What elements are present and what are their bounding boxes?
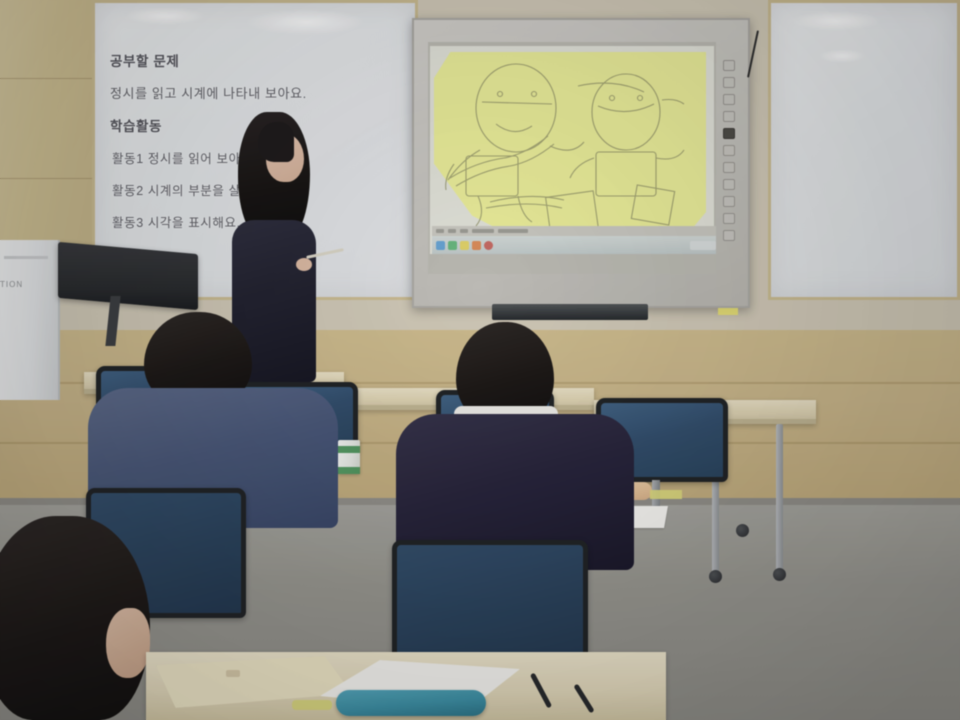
teal-pencil-case xyxy=(336,690,486,716)
help-icon[interactable] xyxy=(723,230,735,241)
yellow-marker xyxy=(292,700,332,710)
taskbar-icon-1[interactable] xyxy=(436,241,445,250)
taskbar-icon-4[interactable] xyxy=(472,241,481,250)
interactive-smartboard[interactable] xyxy=(412,18,750,308)
smartboard-sticker-label xyxy=(718,308,738,315)
slide-menu-row xyxy=(432,226,716,236)
undo-icon[interactable] xyxy=(723,162,735,173)
print-icon[interactable] xyxy=(723,213,735,224)
cabinet-slot xyxy=(4,256,48,259)
projected-slide xyxy=(430,46,714,254)
table-caster xyxy=(773,568,786,581)
smartboard-tool-column[interactable] xyxy=(718,60,740,260)
eraser-icon[interactable] xyxy=(723,145,735,156)
select-icon[interactable] xyxy=(723,94,735,105)
save-icon[interactable] xyxy=(723,196,735,207)
page-up-icon[interactable] xyxy=(723,60,735,71)
page-down-icon[interactable] xyxy=(723,77,735,88)
whiteboard-heading-problem: 공부할 문제 xyxy=(110,50,410,70)
child-drawing xyxy=(430,46,714,246)
pen-icon[interactable] xyxy=(723,111,735,122)
chair-caster xyxy=(736,524,749,537)
active-tool-icon[interactable] xyxy=(723,128,735,139)
redo-icon[interactable] xyxy=(723,179,735,190)
classroom-photo: 공부할 문제 정시를 읽고 시계에 나타내 보아요. 학습활동 활동1 정시를 … xyxy=(0,0,960,720)
table-leg xyxy=(776,424,783,572)
right-whiteboard xyxy=(768,0,960,300)
attendee-ear xyxy=(106,608,150,678)
equipment-cabinet: TION xyxy=(0,240,60,400)
cabinet-brand-text: TION xyxy=(0,280,23,289)
presenter-hair-front xyxy=(258,122,294,162)
taskbar-icon-2[interactable] xyxy=(448,241,457,250)
whiteboard-problem-body: 정시를 읽고 시계에 나타내 보아요. xyxy=(110,83,410,102)
taskbar-tray-icon[interactable] xyxy=(690,241,716,250)
smartboard-pen-tray[interactable] xyxy=(492,304,648,320)
table-caster xyxy=(709,570,722,583)
windows-taskbar[interactable] xyxy=(432,236,716,254)
green-beverage-carton xyxy=(338,440,360,474)
taskbar-icon-3[interactable] xyxy=(460,241,469,250)
yellow-name-label xyxy=(650,490,682,499)
eraser xyxy=(226,670,240,677)
taskbar-icon-5[interactable] xyxy=(484,241,493,250)
wood-wall-panel-left xyxy=(0,0,92,262)
presenter-hand xyxy=(296,258,312,271)
attendee-center xyxy=(396,322,634,562)
smartboard-screen[interactable] xyxy=(428,42,716,274)
